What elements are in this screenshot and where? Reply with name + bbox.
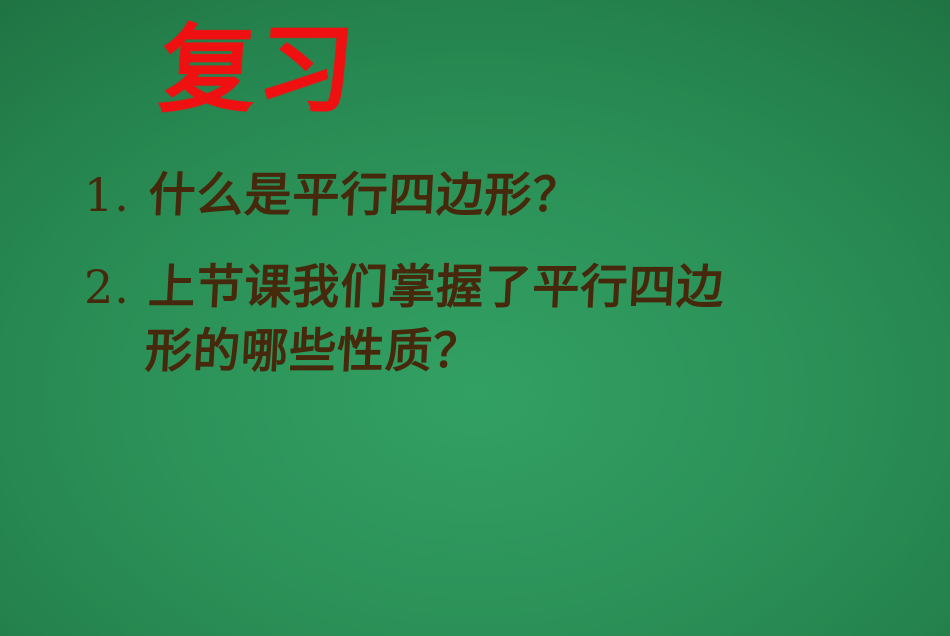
list-item: 2. 上节课我们掌握了平行四边 形的哪些性质？ (84, 258, 884, 382)
slide-body-list: 1. 什么是平行四边形？ 2. 上节课我们掌握了平行四边 形的哪些性质？ (84, 166, 884, 382)
list-item: 1. 什么是平行四边形？ (84, 166, 884, 226)
list-item-line: 什么是平行四边形？ (147, 166, 884, 226)
slide-title-block: 复习 (160, 22, 580, 140)
slide-canvas: 复习 1. 什么是平行四边形？ 2. 上节课我们掌握了平行四边 形的哪些性质？ (0, 0, 950, 636)
list-item-marker: 2. (84, 258, 150, 317)
list-item-marker: 1. (84, 166, 150, 225)
list-item-text: 上节课我们掌握了平行四边 形的哪些性质？ (143, 258, 884, 382)
slide-title: 复习 (157, 22, 584, 118)
list-item-line: 形的哪些性质？ (143, 322, 880, 382)
list-item-text: 什么是平行四边形？ (147, 166, 884, 226)
list-item-line: 上节课我们掌握了平行四边 (147, 258, 884, 318)
